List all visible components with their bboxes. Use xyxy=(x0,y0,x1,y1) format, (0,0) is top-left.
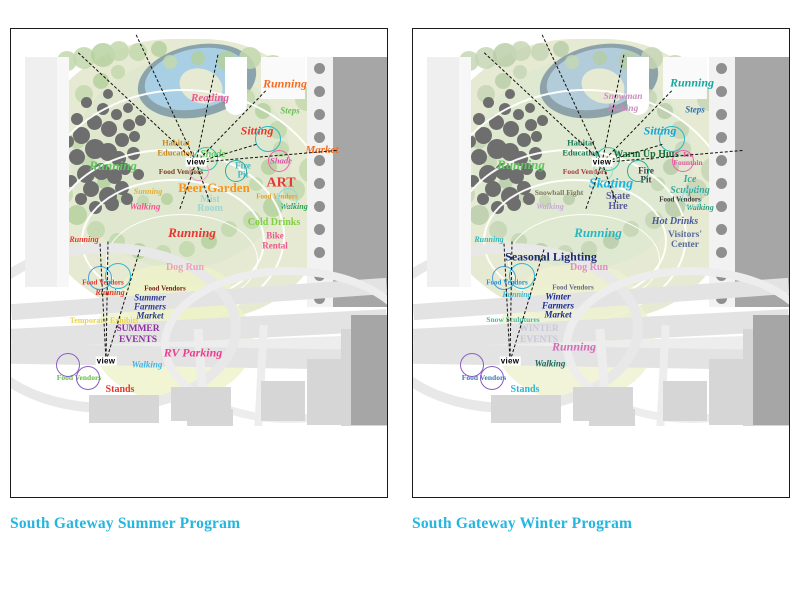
tree-canopy-dark xyxy=(81,97,92,108)
tree-canopy-dark xyxy=(483,97,494,108)
viewpoint-ring xyxy=(225,160,247,182)
map-label: Steps xyxy=(685,105,705,114)
map-label: Snowman xyxy=(603,93,642,103)
viewpoint-ring xyxy=(682,188,702,208)
building-block-dark xyxy=(351,315,387,425)
tree-canopy-light xyxy=(511,41,531,61)
north-plaza xyxy=(225,57,247,115)
map-label: Center xyxy=(671,241,699,251)
map-label: Walking xyxy=(130,202,161,211)
street-tree xyxy=(314,109,325,120)
west-walk-edge xyxy=(459,57,471,287)
caption-summer: South Gateway Summer Program xyxy=(10,515,340,533)
street-tree xyxy=(716,155,727,166)
map-label: Snowball Fight xyxy=(535,189,584,197)
map-label: Running xyxy=(497,158,545,172)
map-label: Hot Drinks xyxy=(652,217,698,228)
view-marker[interactable]: view xyxy=(592,158,613,167)
tree-canopy-light xyxy=(163,55,177,69)
viewpoint-ring xyxy=(627,160,649,182)
map-label: Hire xyxy=(608,202,627,213)
map-label: Cold Drinks xyxy=(248,218,301,229)
map-label: Room xyxy=(197,204,223,215)
tree-canopy-dark xyxy=(103,89,113,99)
viewpoint-ring xyxy=(509,263,535,289)
building-block-dark xyxy=(753,315,789,425)
tree-canopy-dark xyxy=(505,89,515,99)
map-label: Dog Run xyxy=(166,263,204,274)
street-tree xyxy=(716,247,727,258)
viewpoint-ring xyxy=(480,366,504,390)
building-block-east xyxy=(735,57,789,307)
street-tree xyxy=(314,201,325,212)
map-label: Sunning xyxy=(134,188,162,196)
map-label: RV Parking xyxy=(164,347,223,360)
street-tree xyxy=(716,63,727,74)
building-block xyxy=(89,395,159,423)
view-marker[interactable]: view xyxy=(186,158,207,167)
building-block-east xyxy=(333,57,387,307)
viewpoint-ring xyxy=(255,126,281,152)
tree-canopy-light xyxy=(565,55,579,69)
tree-canopy-light xyxy=(111,65,125,79)
map-label: Running xyxy=(474,236,503,244)
map-label: Stands xyxy=(106,385,135,396)
view-marker[interactable]: view xyxy=(500,357,521,366)
map-label: Running xyxy=(263,78,307,91)
map-label: Walking xyxy=(536,203,563,211)
street-tree xyxy=(716,201,727,212)
building-block xyxy=(261,381,305,421)
map-label: Market xyxy=(545,310,572,319)
street-tree xyxy=(314,86,325,97)
map-label: SUMMER xyxy=(116,325,159,335)
street-tree xyxy=(314,132,325,143)
building-block xyxy=(663,381,707,421)
viewpoint-ring xyxy=(105,263,131,289)
street-tree xyxy=(716,132,727,143)
document-sheet: South Gateway Summer Program South Gatew… xyxy=(0,0,800,600)
map-label: Rental xyxy=(262,241,288,250)
building-block xyxy=(491,395,561,423)
map-label: Running xyxy=(574,226,622,240)
viewpoint-ring xyxy=(278,188,298,208)
west-walk xyxy=(25,57,59,287)
map-label: Dog Run xyxy=(570,263,608,274)
view-marker[interactable]: view xyxy=(96,357,117,366)
street-tree xyxy=(716,224,727,235)
tree-canopy-light xyxy=(151,41,167,57)
street-tree xyxy=(314,63,325,74)
tree-canopy-light xyxy=(191,51,205,65)
west-walk xyxy=(427,57,461,287)
tree-canopy-light xyxy=(513,65,527,79)
street-tree xyxy=(716,109,727,120)
map-label: Ice xyxy=(684,175,697,186)
map-label: EVENTS xyxy=(119,336,157,346)
building-block xyxy=(187,409,233,426)
viewpoint-ring xyxy=(659,126,685,152)
tree-canopy-light xyxy=(593,51,607,65)
map-label: Running xyxy=(89,159,137,173)
map-label: Running xyxy=(168,226,216,240)
map-label: Walking xyxy=(132,360,163,369)
map-label: Running xyxy=(552,341,596,354)
tree-canopy-light xyxy=(553,41,569,57)
map-label: Running xyxy=(69,236,98,244)
map-label: Walking xyxy=(535,359,566,368)
viewpoint-ring xyxy=(76,366,100,390)
street-tree xyxy=(716,86,727,97)
west-walk-edge xyxy=(57,57,69,287)
caption-winter: South Gateway Winter Program xyxy=(412,515,742,533)
map-label: Running xyxy=(95,289,124,297)
map-label: Steps xyxy=(280,106,300,115)
map-label: WINTER xyxy=(519,325,559,335)
tree-canopy-light xyxy=(109,41,129,61)
street-tree xyxy=(314,247,325,258)
building-block xyxy=(589,409,635,426)
map-label: Snow Sculptures xyxy=(486,316,539,324)
street-tree xyxy=(314,224,325,235)
viewpoint-ring xyxy=(672,150,694,172)
map-label: Running xyxy=(670,77,714,90)
map-label: Stands xyxy=(511,385,540,396)
map-label: Market xyxy=(137,311,164,320)
street-tree xyxy=(314,178,325,189)
street-tree xyxy=(716,178,727,189)
